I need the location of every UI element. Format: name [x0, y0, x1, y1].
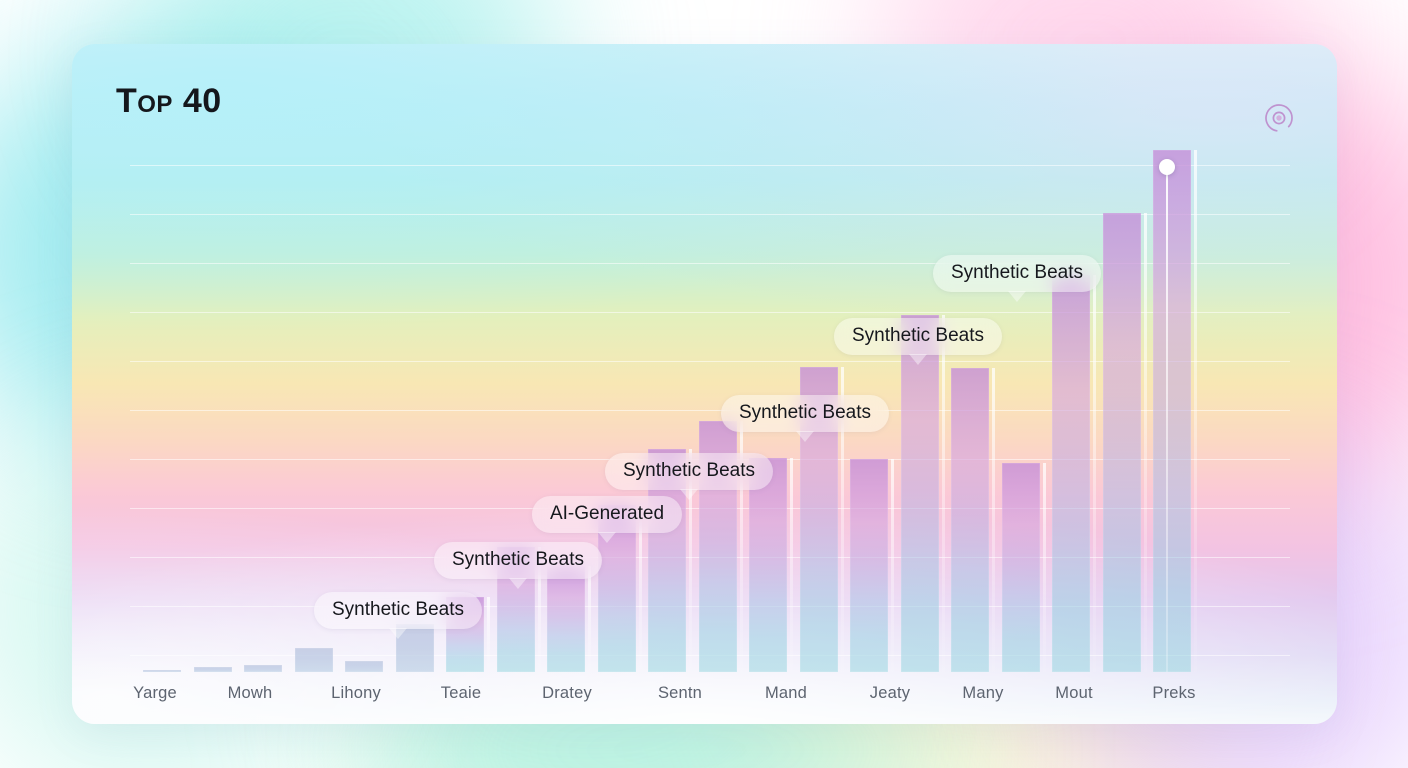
bar-chart-plot: Synthetic BeatsSynthetic BeatsAI-Generat…: [72, 44, 1337, 724]
bar-tooltip[interactable]: Synthetic Beats: [314, 592, 482, 629]
x-axis-label: Sentn: [658, 684, 702, 703]
x-axis-label: Mout: [1055, 684, 1092, 703]
x-axis-label: Mowh: [228, 684, 273, 703]
bar-tooltip[interactable]: Synthetic Beats: [434, 542, 602, 579]
bar-tooltip[interactable]: Synthetic Beats: [834, 318, 1002, 355]
bar-tooltip[interactable]: Synthetic Beats: [605, 453, 773, 490]
x-axis-label: Mand: [765, 684, 807, 703]
chart-card: Top 40 Synthetic BeatsSynthetic BeatsAI-…: [72, 44, 1337, 724]
bar-tooltip[interactable]: Synthetic Beats: [721, 395, 889, 432]
tooltip-group: Synthetic BeatsSynthetic BeatsAI-Generat…: [72, 44, 1337, 724]
x-axis-label: Lihony: [331, 684, 381, 703]
x-axis-labels: YargeMowhLihonyTeaieDrateySentnMandJeaty…: [72, 684, 1337, 706]
bar-tooltip[interactable]: AI-Generated: [532, 496, 682, 533]
x-axis-label: Yarge: [133, 684, 177, 703]
x-axis-label: Dratey: [542, 684, 592, 703]
x-axis-label: Preks: [1152, 684, 1195, 703]
x-axis-label: Jeaty: [870, 684, 910, 703]
x-axis-label: Teaie: [441, 684, 481, 703]
bar-tooltip[interactable]: Synthetic Beats: [933, 255, 1101, 292]
x-axis-label: Many: [962, 684, 1003, 703]
